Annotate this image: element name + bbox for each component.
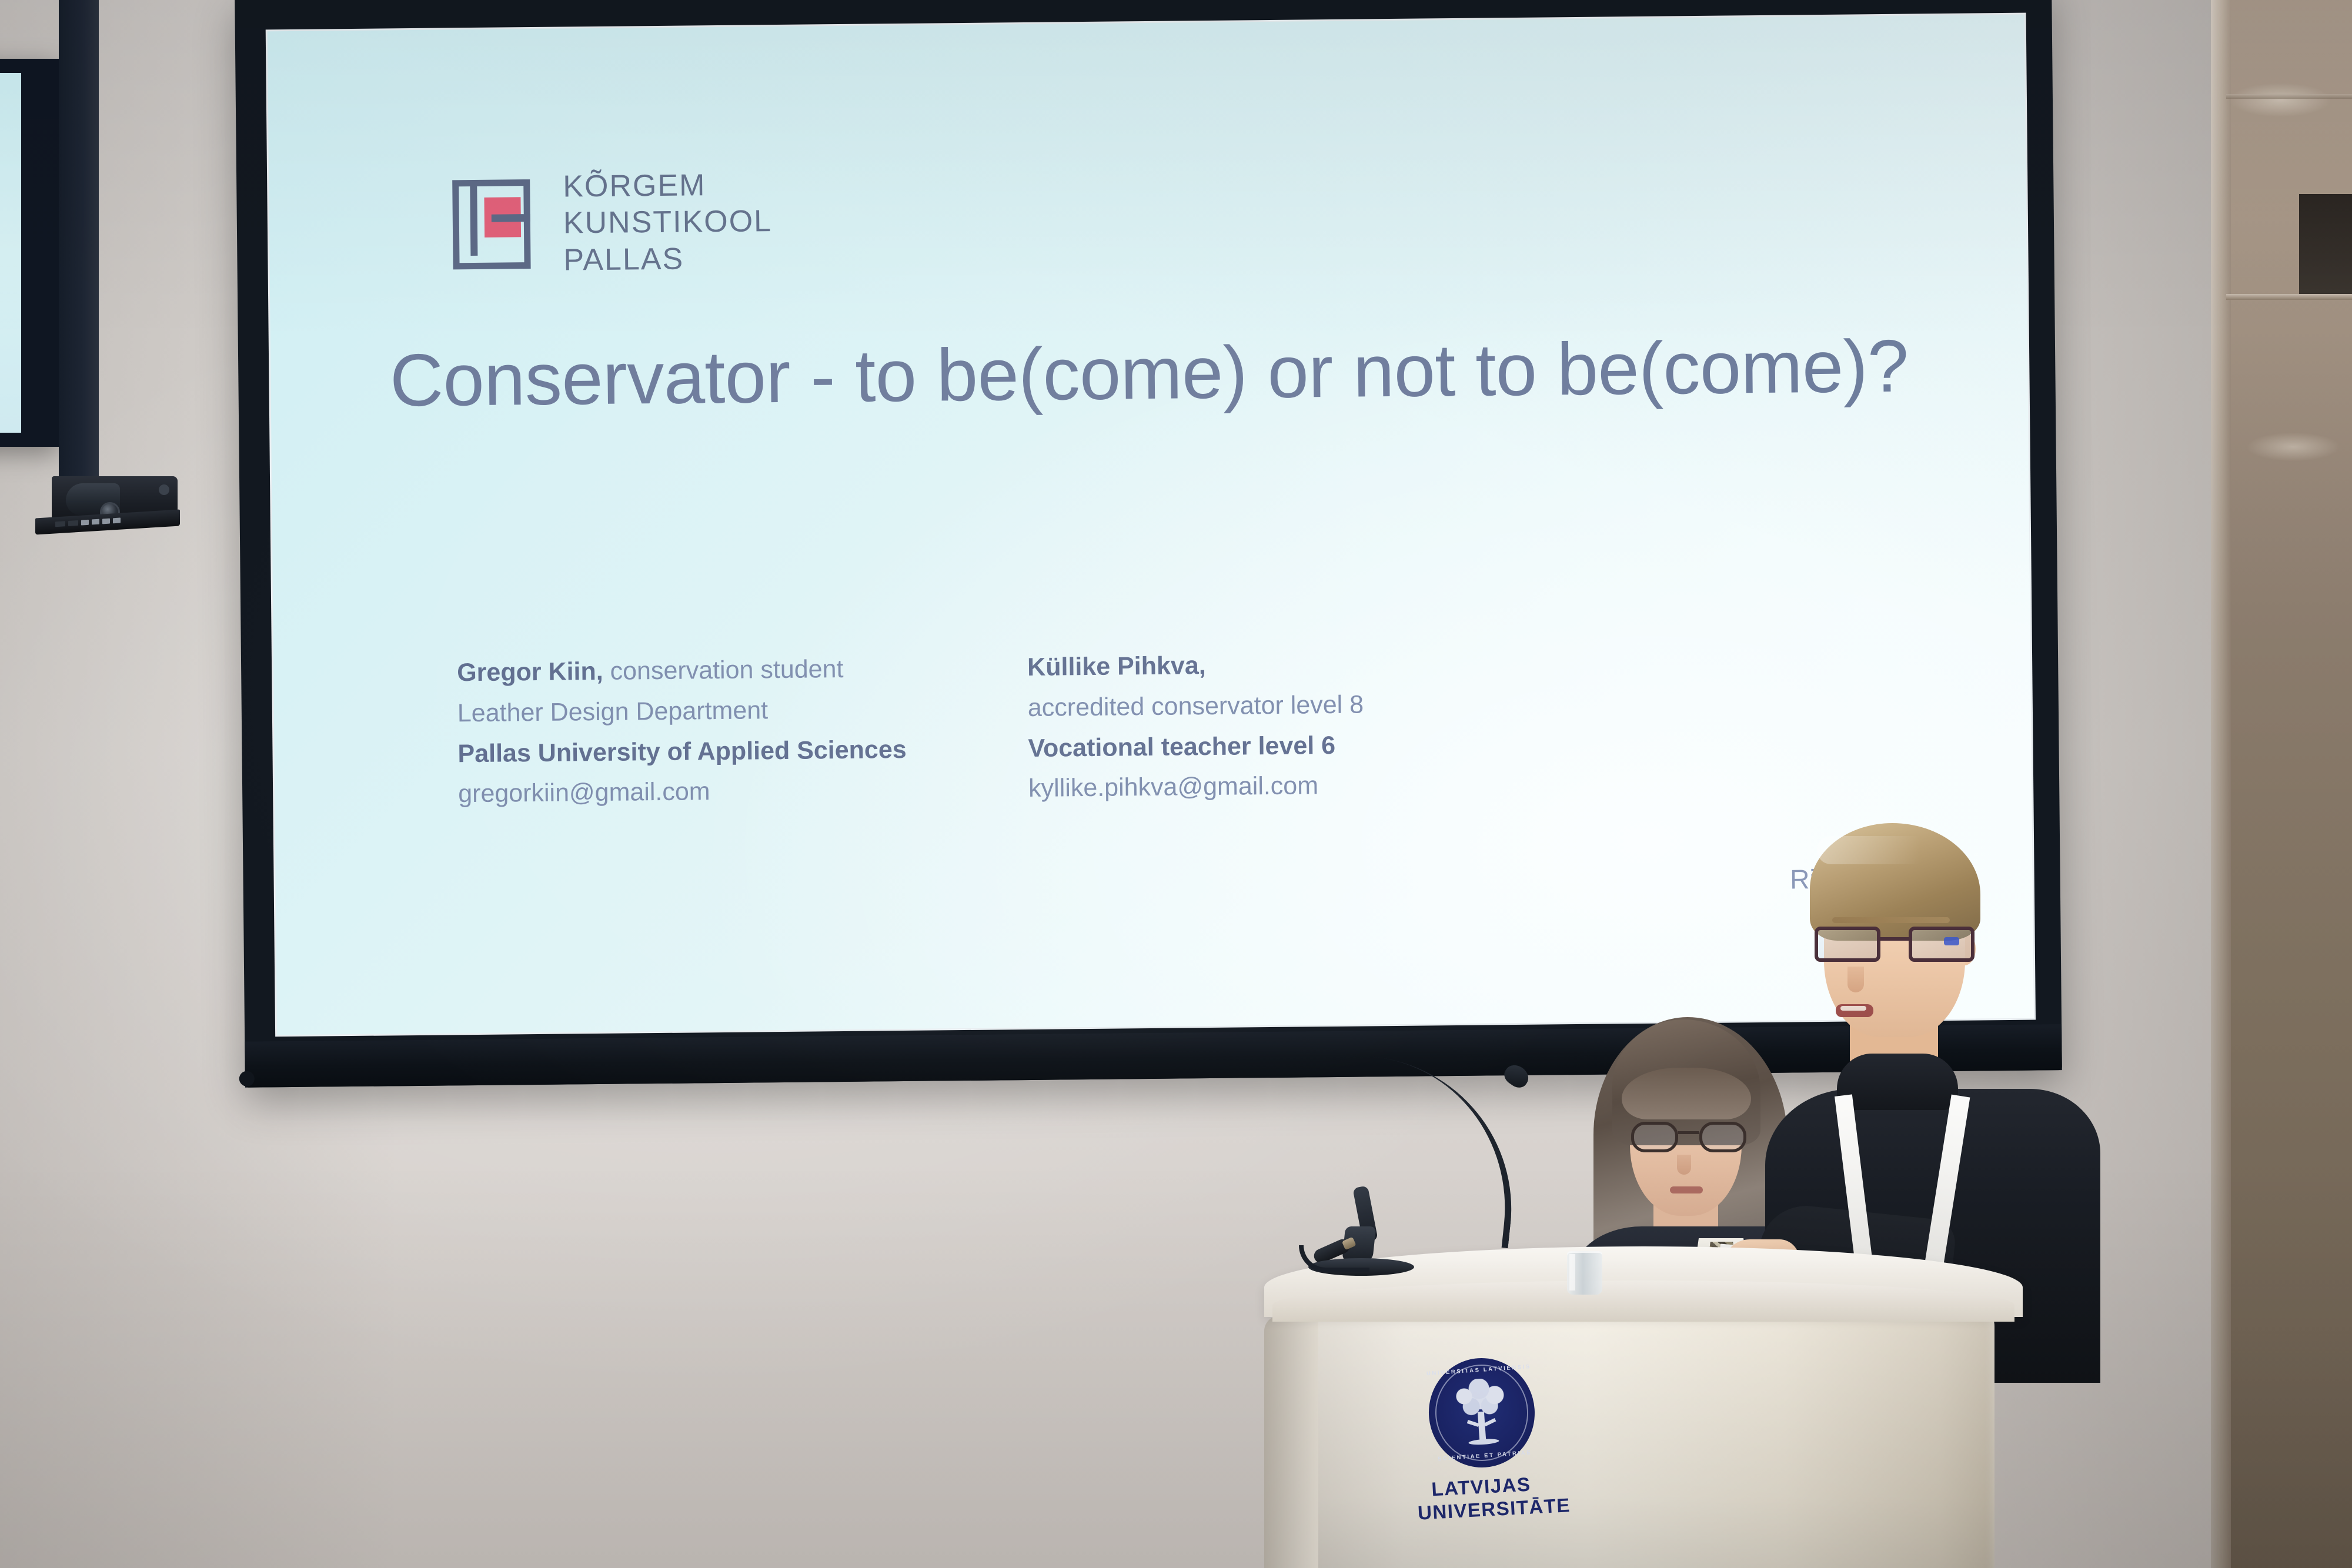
latvijas-universitate-logo: UNIVERSITAS LATVIENSIS SCIENTIAE ET PATR… — [1417, 1358, 1546, 1522]
author-2-name: Küllike Pihkva, — [1027, 651, 1206, 681]
podium: UNIVERSITAS LATVIENSIS SCIENTIAE ET PATR… — [1264, 1246, 2023, 1568]
column-ledge-upper — [2226, 94, 2352, 99]
column-recess — [2299, 194, 2352, 294]
pallas-logo-text: KÕRGEM KUNSTIKOOL PALLAS — [563, 166, 773, 279]
man-turtleneck — [1837, 1054, 1958, 1110]
author-2-email: kyllike.pihkva@gmail.com — [1028, 764, 1511, 809]
screen-bezel: KÕRGEM KUNSTIKOOL PALLAS Conservator - t… — [266, 13, 2036, 1037]
podium-side-panel — [1264, 1316, 1318, 1568]
gooseneck-microphone-icon — [1302, 1041, 1549, 1276]
author-1-line2: Leather Design Department — [457, 688, 940, 734]
pallas-logo-icon — [452, 179, 530, 269]
university-seal-icon: UNIVERSITAS LATVIENSIS SCIENTIAE ET PATR… — [1425, 1355, 1539, 1471]
mic-capsule — [1501, 1061, 1532, 1091]
secondary-display — [0, 59, 59, 447]
man-glasses-icon — [1815, 927, 1975, 965]
man-hair — [1810, 823, 1980, 941]
man-eyebrows — [1832, 917, 1950, 923]
oak-tree-icon — [1448, 1376, 1516, 1449]
camera-shelf — [35, 470, 200, 540]
wall-mullion — [59, 0, 99, 529]
author-1-email: gregorkiin@gmail.com — [458, 770, 941, 815]
conference-room-scene: KÕRGEM KUNSTIKOOL PALLAS Conservator - t… — [0, 0, 2352, 1568]
man-mouth — [1836, 1004, 1873, 1017]
woman-bangs — [1622, 1068, 1751, 1119]
secondary-display-surface — [0, 73, 21, 433]
mic-gooseneck — [1350, 1057, 1526, 1249]
author-block-2: Küllike Pihkva, accredited conservator l… — [1027, 643, 1511, 809]
ptz-camera-icon — [66, 483, 120, 515]
author-1-role: conservation student — [603, 655, 843, 686]
author-2-line2: accredited conservator level 8 — [1028, 683, 1511, 728]
woman-glasses-icon — [1630, 1122, 1748, 1156]
column-ledge-lower — [2226, 294, 2352, 300]
slide-title: Conservator - to be(come) or not to be(c… — [270, 320, 2028, 426]
podium-body — [1292, 1303, 1994, 1568]
author-1-line3: Pallas University of Applied Sciences — [457, 729, 940, 774]
slide-authors: Gregor Kiin, conservation student Leathe… — [457, 639, 1903, 815]
author-2-line3: Vocational teacher level 6 — [1028, 724, 1511, 769]
presentation-slide: KÕRGEM KUNSTIKOOL PALLAS Conservator - t… — [268, 15, 2034, 1035]
woman-nose — [1677, 1155, 1691, 1175]
slide-institution-logo: KÕRGEM KUNSTIKOOL PALLAS — [452, 166, 773, 279]
water-glass — [1567, 1251, 1602, 1295]
man-nose — [1847, 967, 1864, 992]
author-1-name: Gregor Kiin, — [457, 657, 603, 687]
woman-mouth — [1670, 1186, 1703, 1193]
author-block-1: Gregor Kiin, conservation student Leathe… — [457, 648, 941, 814]
